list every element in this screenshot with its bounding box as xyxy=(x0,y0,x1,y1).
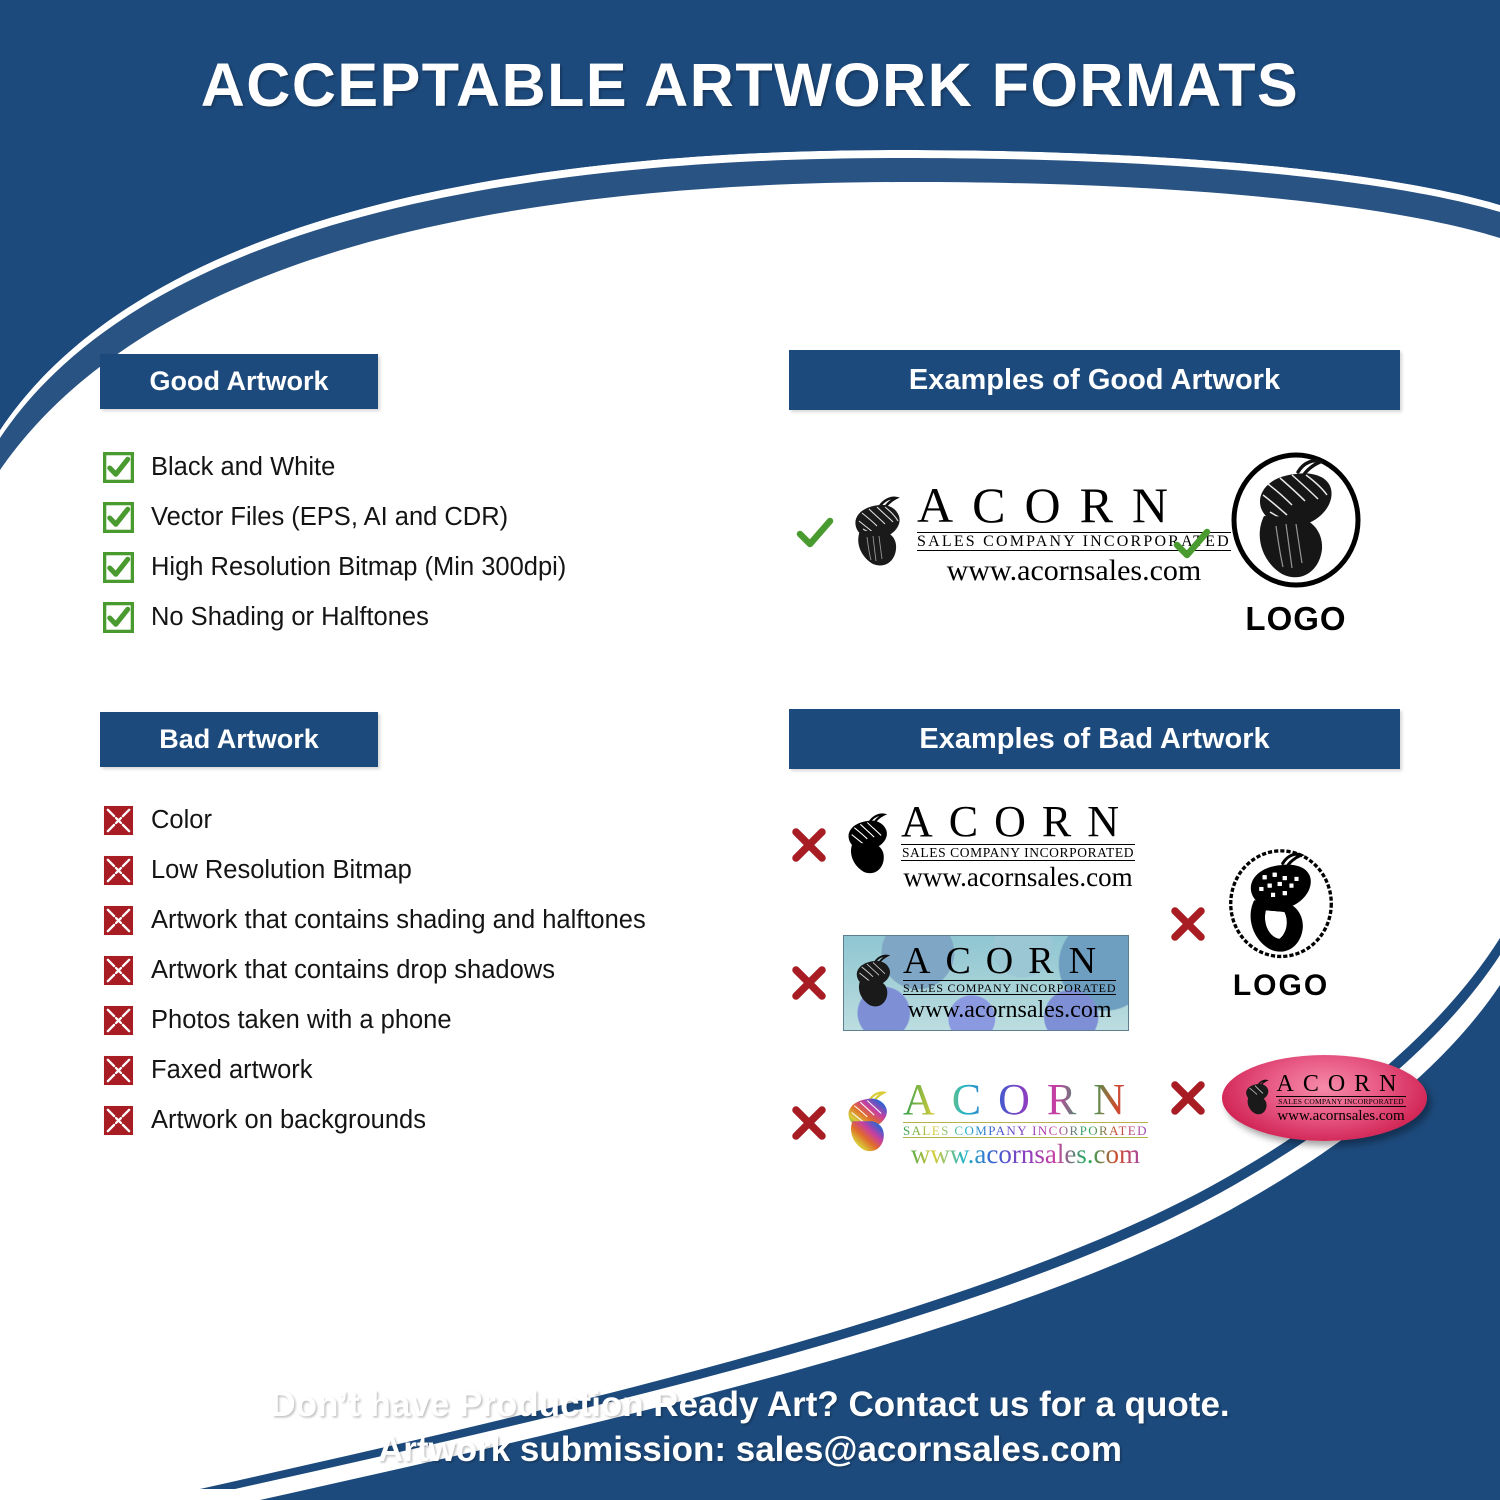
brand-name: ACORN xyxy=(903,942,1116,980)
example-bad-patterned-background: ACORN SALES COMPANY INCORPORATED www.aco… xyxy=(789,935,1129,1031)
section-heading-examples-bad: Examples of Bad Artwork xyxy=(789,709,1400,769)
example-good-circle-logo: LOGO xyxy=(1172,450,1366,638)
example-good-horizontal-logo: ACORN SALES COMPANY INCORPORATED www.aco… xyxy=(795,480,1231,586)
brand-name: ACORN xyxy=(903,1078,1148,1122)
brand-name: ACORN xyxy=(901,800,1135,844)
list-item: Artwork that contains drop shadows xyxy=(103,945,646,995)
poster-title-bar: ACCEPTABLE ARTWORK FORMATS xyxy=(0,0,1500,170)
red-x-icon xyxy=(1168,1078,1208,1118)
acorn-circle-icon xyxy=(1226,450,1366,598)
red-x-box-icon xyxy=(103,855,134,886)
list-item-label: Artwork on backgrounds xyxy=(151,1106,426,1135)
acorn-icon xyxy=(849,495,909,571)
acorn-wordmark: ACORN SALES COMPANY INCORPORATED www.aco… xyxy=(903,1078,1148,1168)
footer-contact-bar: Don’t have Production Ready Art? Contact… xyxy=(0,1355,1500,1500)
page-title: ACCEPTABLE ARTWORK FORMATS xyxy=(201,50,1300,120)
list-item-label: Low Resolution Bitmap xyxy=(151,856,412,885)
good-artwork-heading-label: Good Artwork xyxy=(150,366,329,397)
footer-line-1: Don’t have Production Ready Art? Contact… xyxy=(270,1383,1229,1428)
example-bad-drop-shadow-oval: ACORN SALES COMPANY INCORPORATED www.aco… xyxy=(1168,1055,1427,1141)
acorn-logo-horizontal: ACORN SALES COMPANY INCORPORATED www.aco… xyxy=(843,1078,1148,1168)
brand-tagline: SALES COMPANY INCORPORATED xyxy=(903,1122,1148,1138)
examples-bad-heading-label: Examples of Bad Artwork xyxy=(919,723,1269,756)
list-item-label: Vector Files (EPS, AI and CDR) xyxy=(151,503,508,532)
brand-url: www.acornsales.com xyxy=(903,1141,1148,1168)
list-item-label: High Resolution Bitmap (Min 300dpi) xyxy=(151,553,566,582)
section-heading-good-artwork: Good Artwork xyxy=(100,354,378,409)
green-check-icon xyxy=(795,513,835,553)
list-item: No Shading or Halftones xyxy=(103,592,566,642)
example-bad-color-rainbow: ACORN SALES COMPANY INCORPORATED www.aco… xyxy=(789,1078,1148,1168)
brand-name: ACORN xyxy=(1276,1072,1405,1096)
bad-artwork-list: Color Low Resolution Bitmap Artwork that… xyxy=(103,795,646,1145)
acorn-icon xyxy=(843,1090,895,1156)
red-x-icon xyxy=(789,1103,829,1143)
acorn-logo-oval: ACORN SALES COMPANY INCORPORATED www.aco… xyxy=(1222,1055,1427,1141)
acorn-icon xyxy=(852,953,897,1011)
logo-caption: LOGO xyxy=(1233,969,1329,1003)
green-check-box-icon xyxy=(103,552,134,583)
example-bad-lowres-circle-logo: LOGO xyxy=(1168,845,1340,1003)
poster-content: Good Artwork Bad Artwork Examples of Goo… xyxy=(0,0,1500,1500)
list-item-label: Artwork that contains drop shadows xyxy=(151,956,555,985)
green-check-box-icon xyxy=(103,502,134,533)
brand-url: www.acornsales.com xyxy=(1276,1109,1405,1124)
acorn-wordmark: ACORN SALES COMPANY INCORPORATED www.aco… xyxy=(903,942,1116,1022)
list-item: High Resolution Bitmap (Min 300dpi) xyxy=(103,542,566,592)
brand-tagline: SALES COMPANY INCORPORATED xyxy=(901,844,1135,861)
brand-url: www.acornsales.com xyxy=(901,864,1135,891)
examples-good-heading-label: Examples of Good Artwork xyxy=(909,364,1280,397)
list-item: Vector Files (EPS, AI and CDR) xyxy=(103,492,566,542)
list-item: Artwork on backgrounds xyxy=(103,1095,646,1145)
list-item-label: Artwork that contains shading and halfto… xyxy=(151,906,646,935)
list-item: Photos taken with a phone xyxy=(103,995,646,1045)
section-heading-examples-good: Examples of Good Artwork xyxy=(789,350,1400,410)
list-item-label: Faxed artwork xyxy=(151,1056,313,1085)
logo-caption: LOGO xyxy=(1245,600,1346,638)
list-item-label: Color xyxy=(151,806,212,835)
acorn-wordmark: ACORN SALES COMPANY INCORPORATED www.aco… xyxy=(1276,1072,1405,1124)
red-x-icon xyxy=(789,963,829,1003)
red-x-icon xyxy=(1168,904,1208,944)
brand-tagline: SALES COMPANY INCORPORATED xyxy=(903,980,1116,995)
red-x-box-icon xyxy=(103,955,134,986)
acorn-wordmark: ACORN SALES COMPANY INCORPORATED www.aco… xyxy=(901,800,1135,891)
bad-artwork-heading-label: Bad Artwork xyxy=(159,724,319,755)
section-heading-bad-artwork: Bad Artwork xyxy=(100,712,378,767)
red-x-box-icon xyxy=(103,1055,134,1086)
acorn-icon xyxy=(1243,1079,1273,1117)
list-item-label: No Shading or Halftones xyxy=(151,603,429,632)
green-check-box-icon xyxy=(103,452,134,483)
list-item: Color xyxy=(103,795,646,845)
poster: ACCEPTABLE ARTWORK FORMATS Good Artwork … xyxy=(0,0,1500,1500)
red-x-icon xyxy=(789,825,829,865)
acorn-circle-icon xyxy=(1222,845,1340,969)
acorn-circle-logo: LOGO xyxy=(1222,845,1340,1003)
example-bad-lowres-horizontal: ACORN SALES COMPANY INCORPORATED www.aco… xyxy=(789,800,1135,891)
acorn-logo-horizontal: ACORN SALES COMPANY INCORPORATED www.aco… xyxy=(1243,1072,1405,1124)
red-x-box-icon xyxy=(103,1105,134,1136)
red-x-box-icon xyxy=(103,1005,134,1036)
acorn-circle-logo: LOGO xyxy=(1226,450,1366,638)
acorn-icon xyxy=(843,812,895,878)
acorn-logo-horizontal: ACORN SALES COMPANY INCORPORATED www.aco… xyxy=(843,935,1129,1031)
list-item: Faxed artwork xyxy=(103,1045,646,1095)
green-check-icon xyxy=(1172,524,1212,564)
red-x-box-icon xyxy=(103,905,134,936)
brand-url: www.acornsales.com xyxy=(903,998,1116,1022)
brand-tagline: SALES COMPANY INCORPORATED xyxy=(1276,1096,1405,1107)
list-item: Low Resolution Bitmap xyxy=(103,845,646,895)
list-item: Black and White xyxy=(103,442,566,492)
acorn-logo-horizontal: ACORN SALES COMPANY INCORPORATED www.aco… xyxy=(843,800,1135,891)
list-item: Artwork that contains shading and halfto… xyxy=(103,895,646,945)
green-check-box-icon xyxy=(103,602,134,633)
good-artwork-list: Black and White Vector Files (EPS, AI an… xyxy=(103,442,566,642)
footer-line-2: Artwork submission: sales@acornsales.com xyxy=(378,1428,1122,1473)
list-item-label: Photos taken with a phone xyxy=(151,1006,452,1035)
list-item-label: Black and White xyxy=(151,453,335,482)
red-x-box-icon xyxy=(103,805,134,836)
